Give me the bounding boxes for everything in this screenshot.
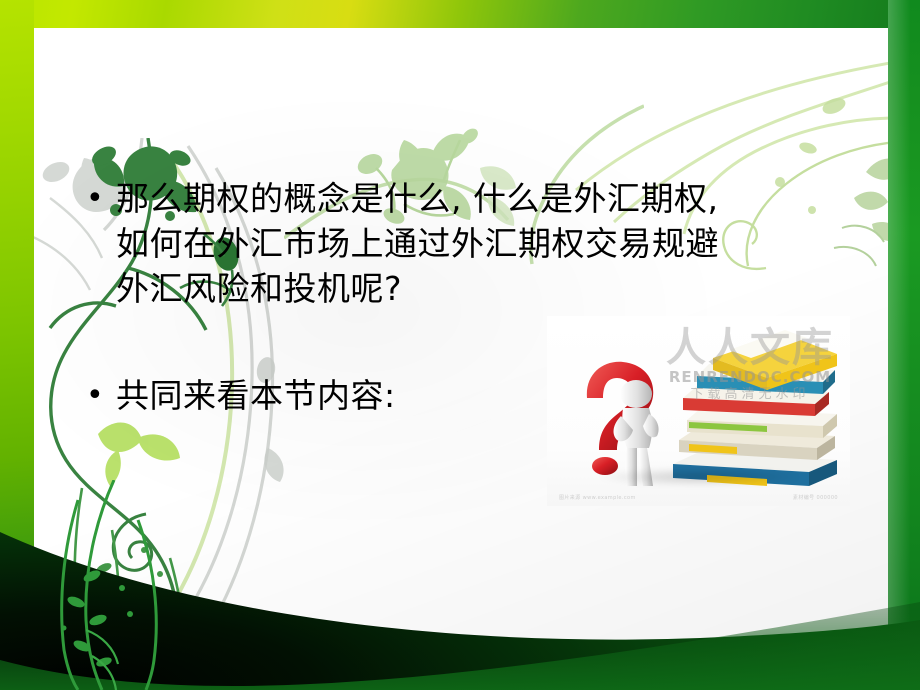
slide-border-right	[888, 0, 920, 690]
presentation-slide: 人人文库 RENRENDOC.COM 下载高清无水印 图片来源 www.exam…	[0, 0, 920, 690]
bullet-spacer	[86, 311, 886, 373]
bullet-marker-icon: •	[86, 373, 116, 418]
bullet-item-2: • 共同来看本节内容:	[86, 373, 886, 418]
photo-ground-shadow	[557, 464, 842, 490]
photo-caption-left: 图片来源 www.example.com	[559, 494, 636, 501]
slide-body-text: • 那么期权的概念是什么, 什么是外汇期权, 如何在外汇市场上通过外汇期权交易规…	[86, 176, 886, 418]
bullet-text-2: 共同来看本节内容:	[116, 373, 886, 418]
slide-canvas: 人人文库 RENRENDOC.COM 下载高清无水印 图片来源 www.exam…	[34, 28, 888, 643]
bullet-text-1: 那么期权的概念是什么, 什么是外汇期权, 如何在外汇市场上通过外汇期权交易规避 …	[116, 176, 886, 311]
photo-caption: 图片来源 www.example.com 素材编号 000000	[559, 494, 838, 501]
slide-border-right-sheen	[888, 0, 920, 690]
photo-caption-right: 素材编号 000000	[793, 494, 838, 501]
bullet-item-1: • 那么期权的概念是什么, 什么是外汇期权, 如何在外汇市场上通过外汇期权交易规…	[86, 176, 886, 311]
slide-border-top	[0, 0, 920, 28]
bullet-marker-icon: •	[86, 176, 116, 221]
